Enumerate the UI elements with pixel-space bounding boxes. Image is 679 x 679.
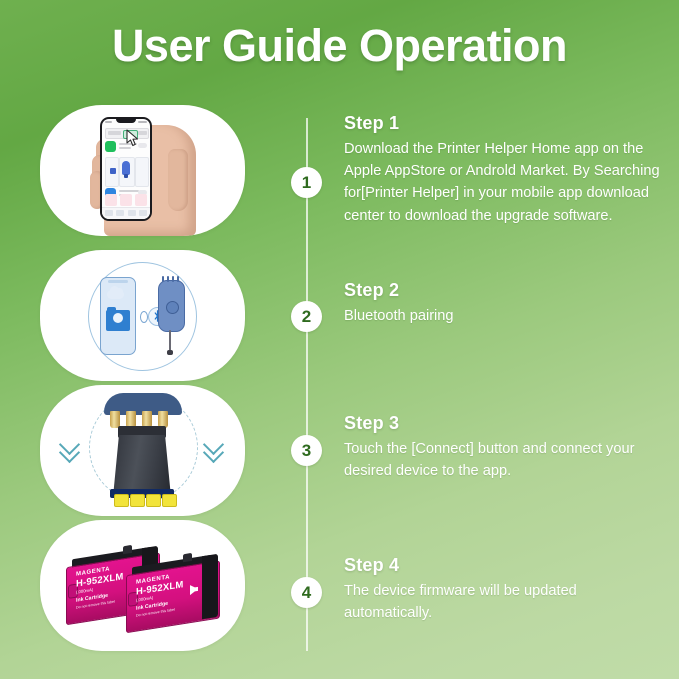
step-1-image-card (40, 105, 245, 236)
hand-holding-phone-appstore-image (40, 105, 245, 236)
step-2-body: Bluetooth pairing (344, 305, 662, 327)
step-badge-2: 2 (291, 301, 322, 332)
device-indicator (166, 301, 179, 314)
step-3-heading: Step 3 (344, 413, 662, 434)
step-4-heading: Step 4 (344, 555, 662, 576)
signal-wave-left (140, 311, 148, 323)
thumb (168, 149, 188, 211)
step-4-body: The device firmware will be updated auto… (344, 580, 662, 624)
contact-pads (106, 489, 178, 505)
phone-illustration (100, 277, 136, 355)
step-4-text: Step 4 The device firmware will be updat… (344, 555, 662, 624)
cartridge-clip (123, 545, 132, 554)
step-3-image-card (40, 385, 245, 516)
bluetooth-dongle-device (158, 280, 185, 332)
app-screenshots (105, 157, 147, 185)
device-cable (169, 330, 171, 352)
step-2-text: Step 2 Bluetooth pairing (344, 280, 662, 327)
device-graphic (122, 161, 130, 175)
step-2-heading: Step 2 (344, 280, 662, 301)
page-title: User Guide Operation (0, 20, 679, 72)
phone-bluetooth-device-pairing-image (40, 250, 245, 381)
step-3-body: Touch the [Connect] button and connect y… (344, 438, 662, 482)
cartridge-clip-2 (183, 553, 192, 562)
device-pins (162, 276, 181, 282)
step-badge-3: 3 (291, 435, 322, 466)
step-badge-1: 1 (291, 167, 322, 198)
chip-reader-device-image (40, 385, 245, 516)
status-bar (102, 119, 150, 126)
step-2-image-card (40, 250, 245, 381)
download-folder-icon (106, 310, 130, 331)
download-circle-icon (113, 313, 123, 323)
green-app-icon (105, 141, 116, 152)
user-guide-page: User Guide Operation (0, 0, 679, 679)
cloud-icon (107, 290, 124, 299)
step-1-text: Step 1 Download the Printer Helper Home … (344, 113, 662, 227)
step-4-image-card: MAGENTA H-952XLM (,000mA) Ink Cartridge … (40, 520, 245, 651)
chevron-down-icon-left (62, 437, 78, 459)
ink-cartridge-front: MAGENTA H-952XLM (,000mA) Ink Cartridge … (126, 561, 218, 632)
step-1-body: Download the Printer Helper Home app on … (344, 138, 662, 227)
device-body (110, 435, 174, 495)
step-badge-4: 4 (291, 577, 322, 608)
screenshot-thumbnails (105, 194, 147, 206)
mini-chip-graphic (110, 168, 116, 174)
phone-speaker (108, 280, 128, 283)
step-3-text: Step 3 Touch the [Connect] button and co… (344, 413, 662, 482)
phone-tab-bar[interactable] (102, 207, 150, 219)
cartridge-dark-end-2 (202, 554, 218, 620)
magenta-ink-cartridges-image: MAGENTA H-952XLM (,000mA) Ink Cartridge … (40, 520, 245, 651)
chevron-down-icon-right (206, 437, 222, 459)
step-1-heading: Step 1 (344, 113, 662, 134)
tap-cursor-icon (126, 129, 140, 147)
